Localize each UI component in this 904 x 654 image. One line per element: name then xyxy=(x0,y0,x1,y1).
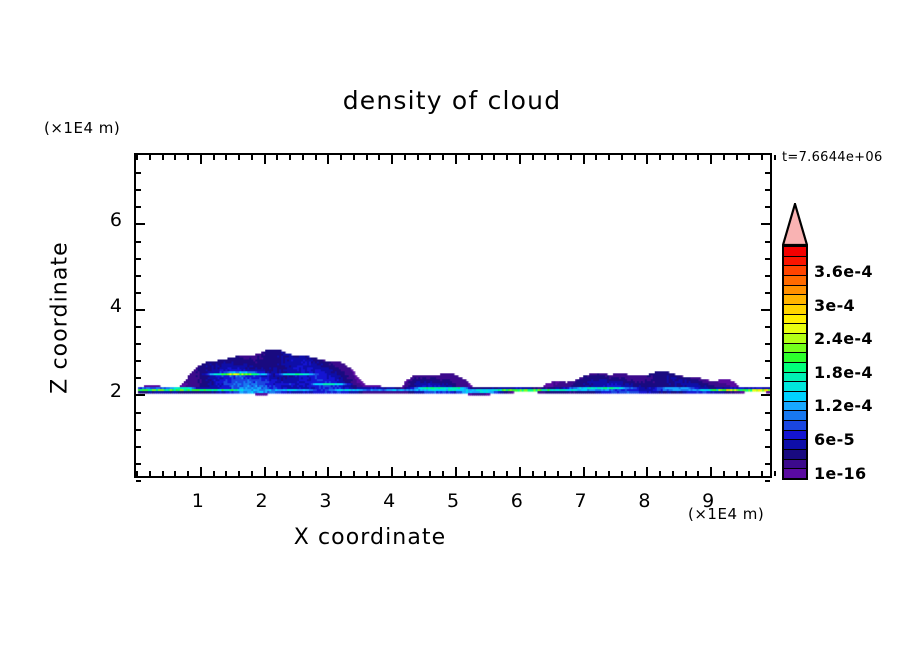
x-axis-tick xyxy=(481,471,483,476)
x-axis-tick xyxy=(621,155,623,160)
y-axis-title: Z coordinate xyxy=(48,238,73,398)
x-axis-tick xyxy=(302,471,304,476)
x-axis-tick xyxy=(646,467,648,476)
x-axis-tick xyxy=(404,155,406,160)
colorbar-label: 3.6e-4 xyxy=(814,262,873,281)
x-axis-tick xyxy=(570,155,572,160)
x-axis-tick xyxy=(761,155,763,160)
x-axis-tick xyxy=(595,155,597,160)
colorbar-band xyxy=(784,382,806,392)
y-axis-tick xyxy=(136,377,141,379)
y-axis-tick xyxy=(136,446,141,448)
y-tick-label: 2 xyxy=(82,380,122,402)
colorbar-label: 1.2e-4 xyxy=(814,396,873,415)
x-axis-tick xyxy=(621,471,623,476)
y-axis-tick xyxy=(765,480,770,482)
x-axis-tick xyxy=(315,471,317,476)
x-axis-tick xyxy=(136,155,138,160)
y-axis-tick xyxy=(765,241,770,243)
y-axis-tick xyxy=(765,275,770,277)
x-axis-tick xyxy=(493,471,495,476)
x-axis-tick xyxy=(149,155,151,160)
y-axis-tick xyxy=(136,241,141,243)
x-tick-label: 1 xyxy=(178,490,218,512)
colorbar-band xyxy=(784,402,806,412)
y-axis-tick xyxy=(136,292,141,294)
colorbar-band xyxy=(784,295,806,305)
x-axis-tick xyxy=(455,467,457,476)
colorbar-band xyxy=(784,469,806,478)
x-tick-label: 5 xyxy=(433,490,473,512)
y-axis-tick xyxy=(765,377,770,379)
x-axis-tick xyxy=(736,471,738,476)
y-axis-tick xyxy=(765,172,770,174)
colorbar xyxy=(782,245,808,480)
colorbar-label: 3e-4 xyxy=(814,296,855,315)
x-axis-tick xyxy=(697,471,699,476)
x-axis-tick xyxy=(557,155,559,160)
x-axis-tick xyxy=(187,471,189,476)
x-axis-tick xyxy=(608,471,610,476)
x-axis-tick xyxy=(493,155,495,160)
y-axis-tick xyxy=(136,429,141,431)
plot-area xyxy=(134,153,772,478)
colorbar-band xyxy=(784,334,806,344)
x-axis-tick xyxy=(417,471,419,476)
x-axis-tick xyxy=(634,471,636,476)
page-title: density of cloud xyxy=(0,86,904,115)
x-axis-tick xyxy=(264,155,266,164)
colorbar-band xyxy=(784,431,806,441)
colorbar-band xyxy=(784,411,806,421)
y-axis-tick xyxy=(761,394,770,396)
y-tick-label: 4 xyxy=(82,295,122,317)
x-axis-tick xyxy=(608,155,610,160)
colorbar-band xyxy=(784,324,806,334)
x-axis-tick xyxy=(736,155,738,160)
x-axis-tick xyxy=(238,471,240,476)
x-tick-label: 7 xyxy=(561,490,601,512)
x-axis-tick xyxy=(672,155,674,160)
x-axis-tick xyxy=(289,471,291,476)
x-axis-tick xyxy=(455,155,457,164)
y-axis-tick xyxy=(136,480,141,482)
colorbar-over-arrow xyxy=(782,203,808,246)
colorbar-label: 1e-16 xyxy=(814,464,866,483)
y-axis-tick xyxy=(765,412,770,414)
x-axis-unit-label: (×1E4 m) xyxy=(688,505,764,523)
x-axis-tick xyxy=(506,471,508,476)
x-axis-tick xyxy=(774,155,776,160)
x-axis-tick xyxy=(378,471,380,476)
x-axis-tick xyxy=(174,471,176,476)
colorbar-label: 1.8e-4 xyxy=(814,363,873,382)
y-axis-tick xyxy=(765,343,770,345)
x-axis-tick xyxy=(723,155,725,160)
y-axis-tick xyxy=(765,189,770,191)
x-axis-tick xyxy=(429,471,431,476)
x-axis-tick xyxy=(174,155,176,160)
contour-field xyxy=(136,155,770,476)
colorbar-band xyxy=(784,363,806,373)
y-axis-tick xyxy=(136,360,141,362)
x-axis-tick xyxy=(391,467,393,476)
x-axis-tick xyxy=(468,155,470,160)
x-axis-tick xyxy=(634,155,636,160)
colorbar-band xyxy=(784,286,806,296)
x-axis-tick xyxy=(340,155,342,160)
x-axis-tick xyxy=(276,471,278,476)
y-axis-tick xyxy=(136,172,141,174)
colorbar-band xyxy=(784,353,806,363)
x-axis-tick xyxy=(276,155,278,160)
timestamp-annotation: t=7.6644e+06 xyxy=(782,150,883,165)
x-axis-tick xyxy=(429,155,431,160)
y-tick-label: 6 xyxy=(82,209,122,231)
x-axis-tick xyxy=(340,471,342,476)
x-axis-tick xyxy=(225,471,227,476)
colorbar-band xyxy=(784,276,806,286)
y-axis-tick xyxy=(136,343,141,345)
x-axis-tick xyxy=(353,471,355,476)
x-axis-tick xyxy=(149,471,151,476)
colorbar-band xyxy=(784,315,806,325)
x-axis-tick xyxy=(519,155,521,164)
x-axis-tick xyxy=(774,471,776,476)
x-axis-tick xyxy=(391,155,393,164)
x-axis-tick xyxy=(506,155,508,160)
x-axis-tick xyxy=(519,467,521,476)
colorbar-band xyxy=(784,247,806,257)
x-axis-tick xyxy=(672,471,674,476)
x-axis-tick xyxy=(583,155,585,164)
x-axis-tick xyxy=(417,155,419,160)
y-axis-tick xyxy=(765,206,770,208)
x-axis-tick xyxy=(544,471,546,476)
colorbar-band xyxy=(784,257,806,267)
x-axis-tick xyxy=(748,471,750,476)
colorbar-band xyxy=(784,460,806,470)
x-axis-tick xyxy=(213,471,215,476)
x-axis-tick xyxy=(659,471,661,476)
colorbar-label: 6e-5 xyxy=(814,430,855,449)
colorbar-band xyxy=(784,450,806,460)
x-axis-tick xyxy=(200,155,202,164)
x-axis-tick xyxy=(442,155,444,160)
x-axis-tick xyxy=(366,471,368,476)
y-axis-tick xyxy=(136,275,141,277)
y-axis-tick xyxy=(765,429,770,431)
y-axis-tick xyxy=(765,258,770,260)
x-tick-label: 4 xyxy=(369,490,409,512)
y-axis-tick xyxy=(765,446,770,448)
x-axis-tick xyxy=(748,155,750,160)
y-axis-tick xyxy=(136,412,141,414)
x-axis-tick xyxy=(378,155,380,160)
x-axis-tick xyxy=(238,155,240,160)
x-axis-tick xyxy=(710,467,712,476)
y-axis-tick xyxy=(765,463,770,465)
y-axis-tick xyxy=(136,394,145,396)
x-axis-tick xyxy=(289,155,291,160)
x-axis-tick xyxy=(583,467,585,476)
y-axis-tick xyxy=(136,309,145,311)
x-axis-tick xyxy=(187,155,189,160)
y-axis-tick xyxy=(765,326,770,328)
x-tick-label: 8 xyxy=(624,490,664,512)
x-axis-tick xyxy=(532,471,534,476)
x-axis-tick xyxy=(315,155,317,160)
x-axis-tick xyxy=(251,471,253,476)
x-axis-tick xyxy=(697,155,699,160)
x-axis-tick xyxy=(225,155,227,160)
colorbar-label: 2.4e-4 xyxy=(814,329,873,348)
x-tick-label: 3 xyxy=(305,490,345,512)
x-axis-tick xyxy=(646,155,648,164)
x-axis-tick xyxy=(685,471,687,476)
x-axis-tick xyxy=(200,467,202,476)
y-axis-tick xyxy=(761,309,770,311)
y-axis-tick xyxy=(136,189,141,191)
x-axis-tick xyxy=(366,155,368,160)
colorbar-band xyxy=(784,373,806,383)
x-axis-tick xyxy=(710,155,712,164)
y-axis-tick xyxy=(765,292,770,294)
x-axis-tick xyxy=(353,155,355,160)
x-axis-tick xyxy=(570,471,572,476)
x-axis-tick xyxy=(162,471,164,476)
colorbar-band xyxy=(784,421,806,431)
colorbar-band xyxy=(784,392,806,402)
x-axis-tick xyxy=(595,471,597,476)
x-axis-tick xyxy=(544,155,546,160)
y-axis-tick xyxy=(136,463,141,465)
x-tick-label: 2 xyxy=(242,490,282,512)
colorbar-band xyxy=(784,266,806,276)
x-axis-title: X coordinate xyxy=(0,525,740,550)
y-axis-tick xyxy=(136,206,141,208)
y-axis-tick xyxy=(136,258,141,260)
y-axis-unit-label: (×1E4 m) xyxy=(44,119,120,137)
x-axis-tick xyxy=(557,471,559,476)
x-axis-tick xyxy=(723,471,725,476)
x-axis-tick xyxy=(251,155,253,160)
y-axis-tick xyxy=(136,223,145,225)
x-axis-tick xyxy=(468,471,470,476)
y-axis-tick xyxy=(761,223,770,225)
x-axis-tick xyxy=(481,155,483,160)
x-axis-tick xyxy=(327,155,329,164)
colorbar-band xyxy=(784,305,806,315)
y-axis-tick xyxy=(765,360,770,362)
y-axis-tick xyxy=(136,326,141,328)
x-axis-tick xyxy=(685,155,687,160)
colorbar-band xyxy=(784,344,806,354)
x-axis-tick xyxy=(659,155,661,160)
x-axis-tick xyxy=(136,471,138,476)
x-axis-tick xyxy=(404,471,406,476)
x-tick-label: 6 xyxy=(497,490,537,512)
x-axis-tick xyxy=(761,471,763,476)
x-axis-tick xyxy=(302,155,304,160)
x-axis-tick xyxy=(532,155,534,160)
colorbar-band xyxy=(784,440,806,450)
x-axis-tick xyxy=(213,155,215,160)
x-axis-tick xyxy=(162,155,164,160)
x-axis-tick xyxy=(327,467,329,476)
x-axis-tick xyxy=(442,471,444,476)
x-axis-tick xyxy=(264,467,266,476)
